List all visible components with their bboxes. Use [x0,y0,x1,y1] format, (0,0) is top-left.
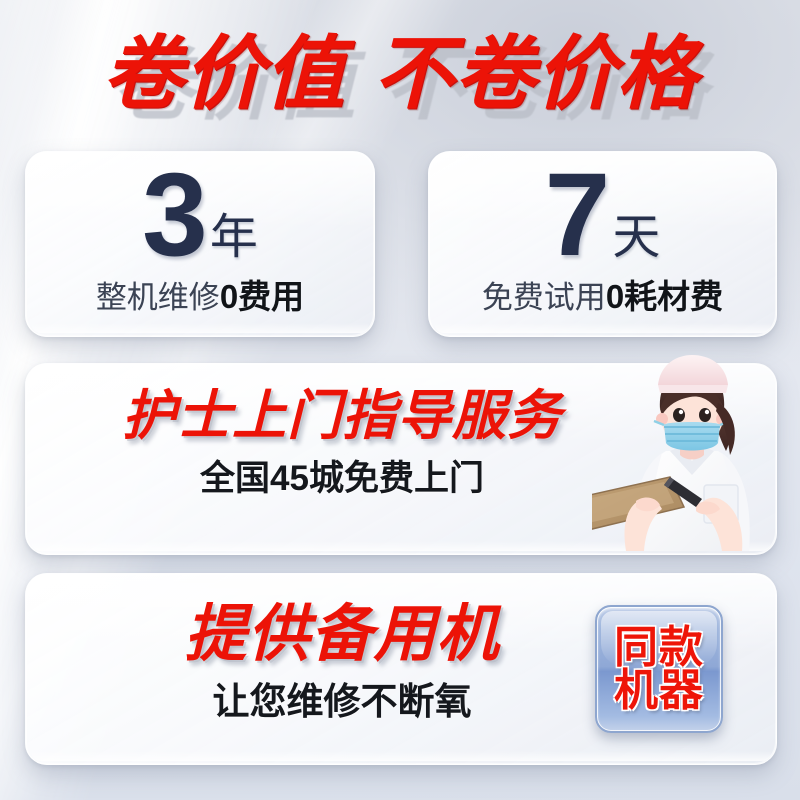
spare-machine-text: 提供备用机 让您维修不断氧 [72,600,612,725]
badge-line-2: 机器 [614,669,704,712]
warranty-subtitle-light: 整机维修 [96,280,220,315]
trial-number: 7 [545,161,609,270]
card-nurse-visit: 护士上门指导服务 全国45城免费上门 [25,363,777,555]
headline-text: 卷价值不卷价格 [103,34,698,114]
headline-left: 卷价值 [103,29,346,118]
trial-subtitle-bold: 0耗材费 [606,278,723,315]
headline-right: 不卷价格 [374,29,698,118]
warranty-subtitle-bold: 0费用 [220,278,304,315]
nurse-visit-subtitle: 全国45城免费上门 [62,450,622,501]
warranty-number-row: 3 年 [26,158,374,270]
spare-machine-subtitle: 让您维修不断氧 [72,671,612,725]
same-model-badge-text: 同款 机器 [614,626,704,712]
promo-banner: 卷价值不卷价格 卷价值不卷价格 3 年 整机维修0费用 7 天 免费试用0耗材费… [0,0,800,800]
card-warranty: 3 年 整机维修0费用 [25,151,375,337]
nurse-visit-title: 护士上门指导服务 [122,386,562,446]
trial-subtitle-light: 免费试用 [482,280,606,315]
spare-machine-title: 提供备用机 [184,600,499,669]
trial-unit: 天 [612,214,660,262]
card-trial: 7 天 免费试用0耗材费 [428,151,777,337]
same-model-badge: 同款 机器 [595,605,723,733]
nurse-visit-text: 护士上门指导服务 全国45城免费上门 [62,386,622,501]
headline: 卷价值不卷价格 卷价值不卷价格 [0,22,800,126]
trial-number-row: 7 天 [429,158,776,270]
warranty-unit: 年 [210,214,258,262]
warranty-number: 3 [142,161,206,270]
badge-line-1: 同款 [614,626,704,669]
trial-subtitle: 免费试用0耗材费 [429,270,776,318]
headline-inner: 卷价值不卷价格 卷价值不卷价格 [103,34,698,114]
warranty-subtitle: 整机维修0费用 [26,270,374,318]
